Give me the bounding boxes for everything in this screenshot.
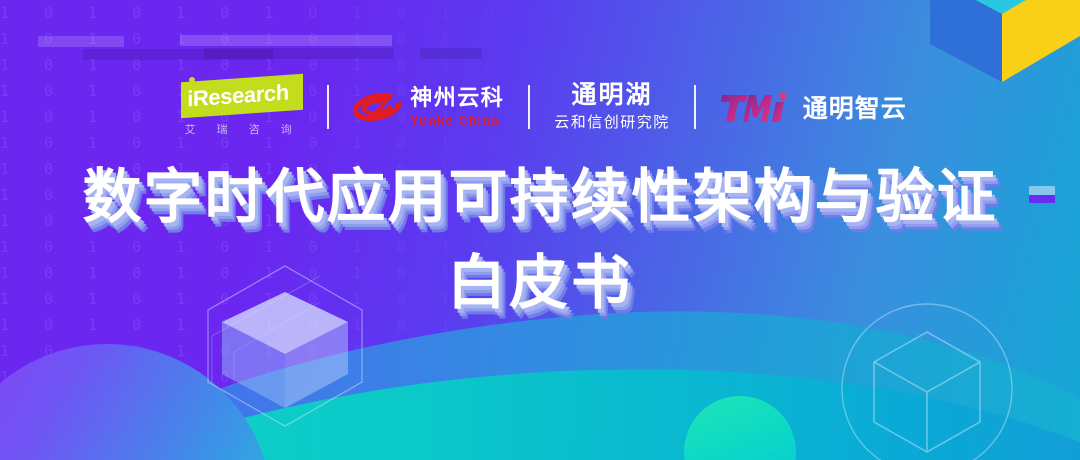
bar-accent-7 [620,361,674,369]
logo-divider-1 [327,85,329,129]
logo-iresearch: iResearch 艾 瑞 咨 询 [173,76,303,138]
tmi-name-cn: 通明智云 [803,89,907,125]
title-block: 数字时代应用可持续性架构与验证 白皮书 [0,160,1080,320]
logo-tmi: 通明智云 [720,76,907,138]
bar-accent-6 [620,352,674,361]
logo-divider-3 [694,85,696,129]
bar-accent-3 [180,35,392,46]
whitepaper-cover: 1 0 1 0 1 0 1 0 1 0 1 0 1 0 1 0 1 0 1 0 … [0,0,1080,460]
iresearch-subtitle: 艾 瑞 咨 询 [176,121,301,137]
tongminghu-name-cn: 通明湖 [571,83,652,108]
title-line-1: 数字时代应用可持续性架构与验证 [0,160,1080,234]
wave-band-teal [0,330,1080,460]
tmi-wordmark-icon [720,90,792,124]
tongminghu-subtitle: 云和信创研究院 [554,116,670,131]
logo-tongminghu: 通明湖 云和信创研究院 [554,76,670,138]
yunke-name-cn: 神州云科 [410,87,504,109]
logo-divider-2 [528,85,530,129]
bar-accent-5 [420,48,482,59]
bar-accent-4 [204,48,394,59]
bar-accent-2 [83,49,273,60]
logo-bar: iResearch 艾 瑞 咨 询 神州云科 Yunke China [0,76,1080,138]
gradient-circle-bottom-left [0,344,272,460]
bar-accent-1 [38,36,124,47]
yunke-name-en: Yunke China [410,114,504,127]
yunke-swoosh-icon [353,87,401,127]
teal-circle-bottom-center [684,396,796,460]
logo-yunke-china: 神州云科 Yunke China [353,76,504,138]
iresearch-mark-icon: iResearch [173,78,303,116]
title-line-2: 白皮书 [0,246,1080,320]
